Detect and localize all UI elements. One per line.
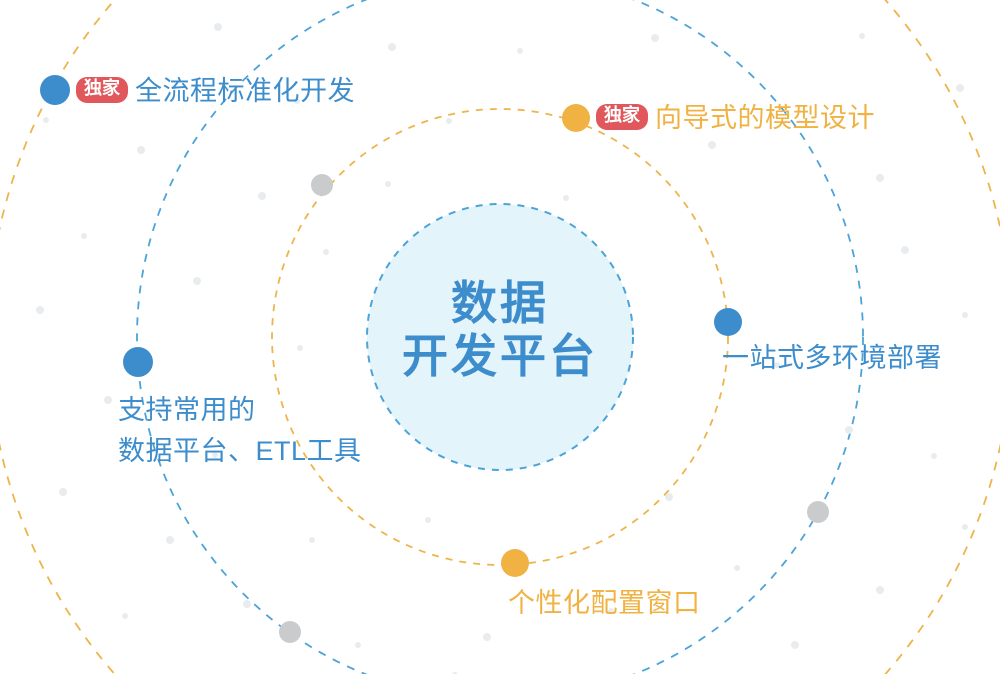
background-speck <box>931 453 937 459</box>
feature-label-supports-common-data-platforms-etl-tools[interactable]: 支持常用的 数据平台、ETL工具 <box>118 390 362 471</box>
exclusive-badge: 独家 <box>76 77 128 103</box>
background-speck <box>446 118 452 124</box>
hub-title-line-1: 数据 <box>300 277 700 330</box>
background-speck <box>483 633 491 641</box>
background-speck <box>791 641 799 649</box>
background-speck <box>651 34 659 42</box>
background-speck <box>137 146 145 154</box>
feature-dot-one-stop-multi-environment-deployment[interactable] <box>714 308 742 336</box>
feature-text: 全流程标准化开发 <box>135 76 355 106</box>
feature-text: 个性化配置窗口 <box>508 588 701 618</box>
hub-title-line-2: 开发平台 <box>300 330 700 383</box>
background-speck <box>517 48 523 54</box>
background-speck <box>956 84 964 92</box>
feature-dot-personalized-configuration-window[interactable] <box>501 549 529 577</box>
feature-dot-supports-common-data-platforms-etl-tools[interactable] <box>123 347 153 377</box>
gray-node-lower-left[interactable] <box>279 621 301 643</box>
background-speck <box>36 306 44 314</box>
background-speck <box>388 43 396 51</box>
background-speck <box>193 277 201 285</box>
background-speck <box>214 23 222 31</box>
background-speck <box>901 246 909 254</box>
background-speck <box>81 233 87 239</box>
background-speck <box>708 141 716 149</box>
background-speck <box>859 33 865 39</box>
hub-title: 数据 开发平台 <box>300 277 700 384</box>
background-speck <box>876 174 884 182</box>
feature-dot-wizard-style-model-design[interactable] <box>562 104 590 132</box>
background-speck <box>845 426 853 434</box>
background-speck <box>876 586 884 594</box>
feature-text: 支持常用的 数据平台、ETL工具 <box>118 395 362 466</box>
background-speck <box>309 537 315 543</box>
feature-label-personalized-configuration-window[interactable]: 个性化配置窗口 <box>508 585 701 621</box>
background-speck <box>962 312 968 318</box>
background-speck <box>962 524 968 530</box>
feature-text: 一站式多环境部署 <box>722 343 942 373</box>
feature-label-full-process-standardized-development[interactable]: 独家全流程标准化开发 <box>76 73 355 109</box>
feature-text: 向导式的模型设计 <box>655 103 875 133</box>
background-speck <box>59 488 67 496</box>
feature-label-wizard-style-model-design[interactable]: 独家向导式的模型设计 <box>596 100 875 136</box>
background-speck <box>258 192 266 200</box>
background-speck <box>563 195 569 201</box>
background-speck <box>104 396 112 404</box>
background-speck <box>385 181 391 187</box>
background-speck <box>122 613 128 619</box>
background-speck <box>355 642 361 648</box>
background-speck <box>243 600 251 608</box>
feature-dot-full-process-standardized-development[interactable] <box>40 75 70 105</box>
feature-label-one-stop-multi-environment-deployment[interactable]: 一站式多环境部署 <box>722 340 942 376</box>
gray-node-upper-left[interactable] <box>311 174 333 196</box>
background-speck <box>323 249 329 255</box>
gray-node-lower-right[interactable] <box>807 501 829 523</box>
background-speck <box>734 565 740 571</box>
background-speck <box>166 536 174 544</box>
background-speck <box>43 117 49 123</box>
background-speck <box>425 517 431 523</box>
infographic-canvas: 数据 开发平台 独家全流程标准化开发独家向导式的模型设计一站式多环境部署个性化配… <box>0 0 1000 674</box>
exclusive-badge: 独家 <box>596 104 648 130</box>
background-speck <box>665 493 673 501</box>
